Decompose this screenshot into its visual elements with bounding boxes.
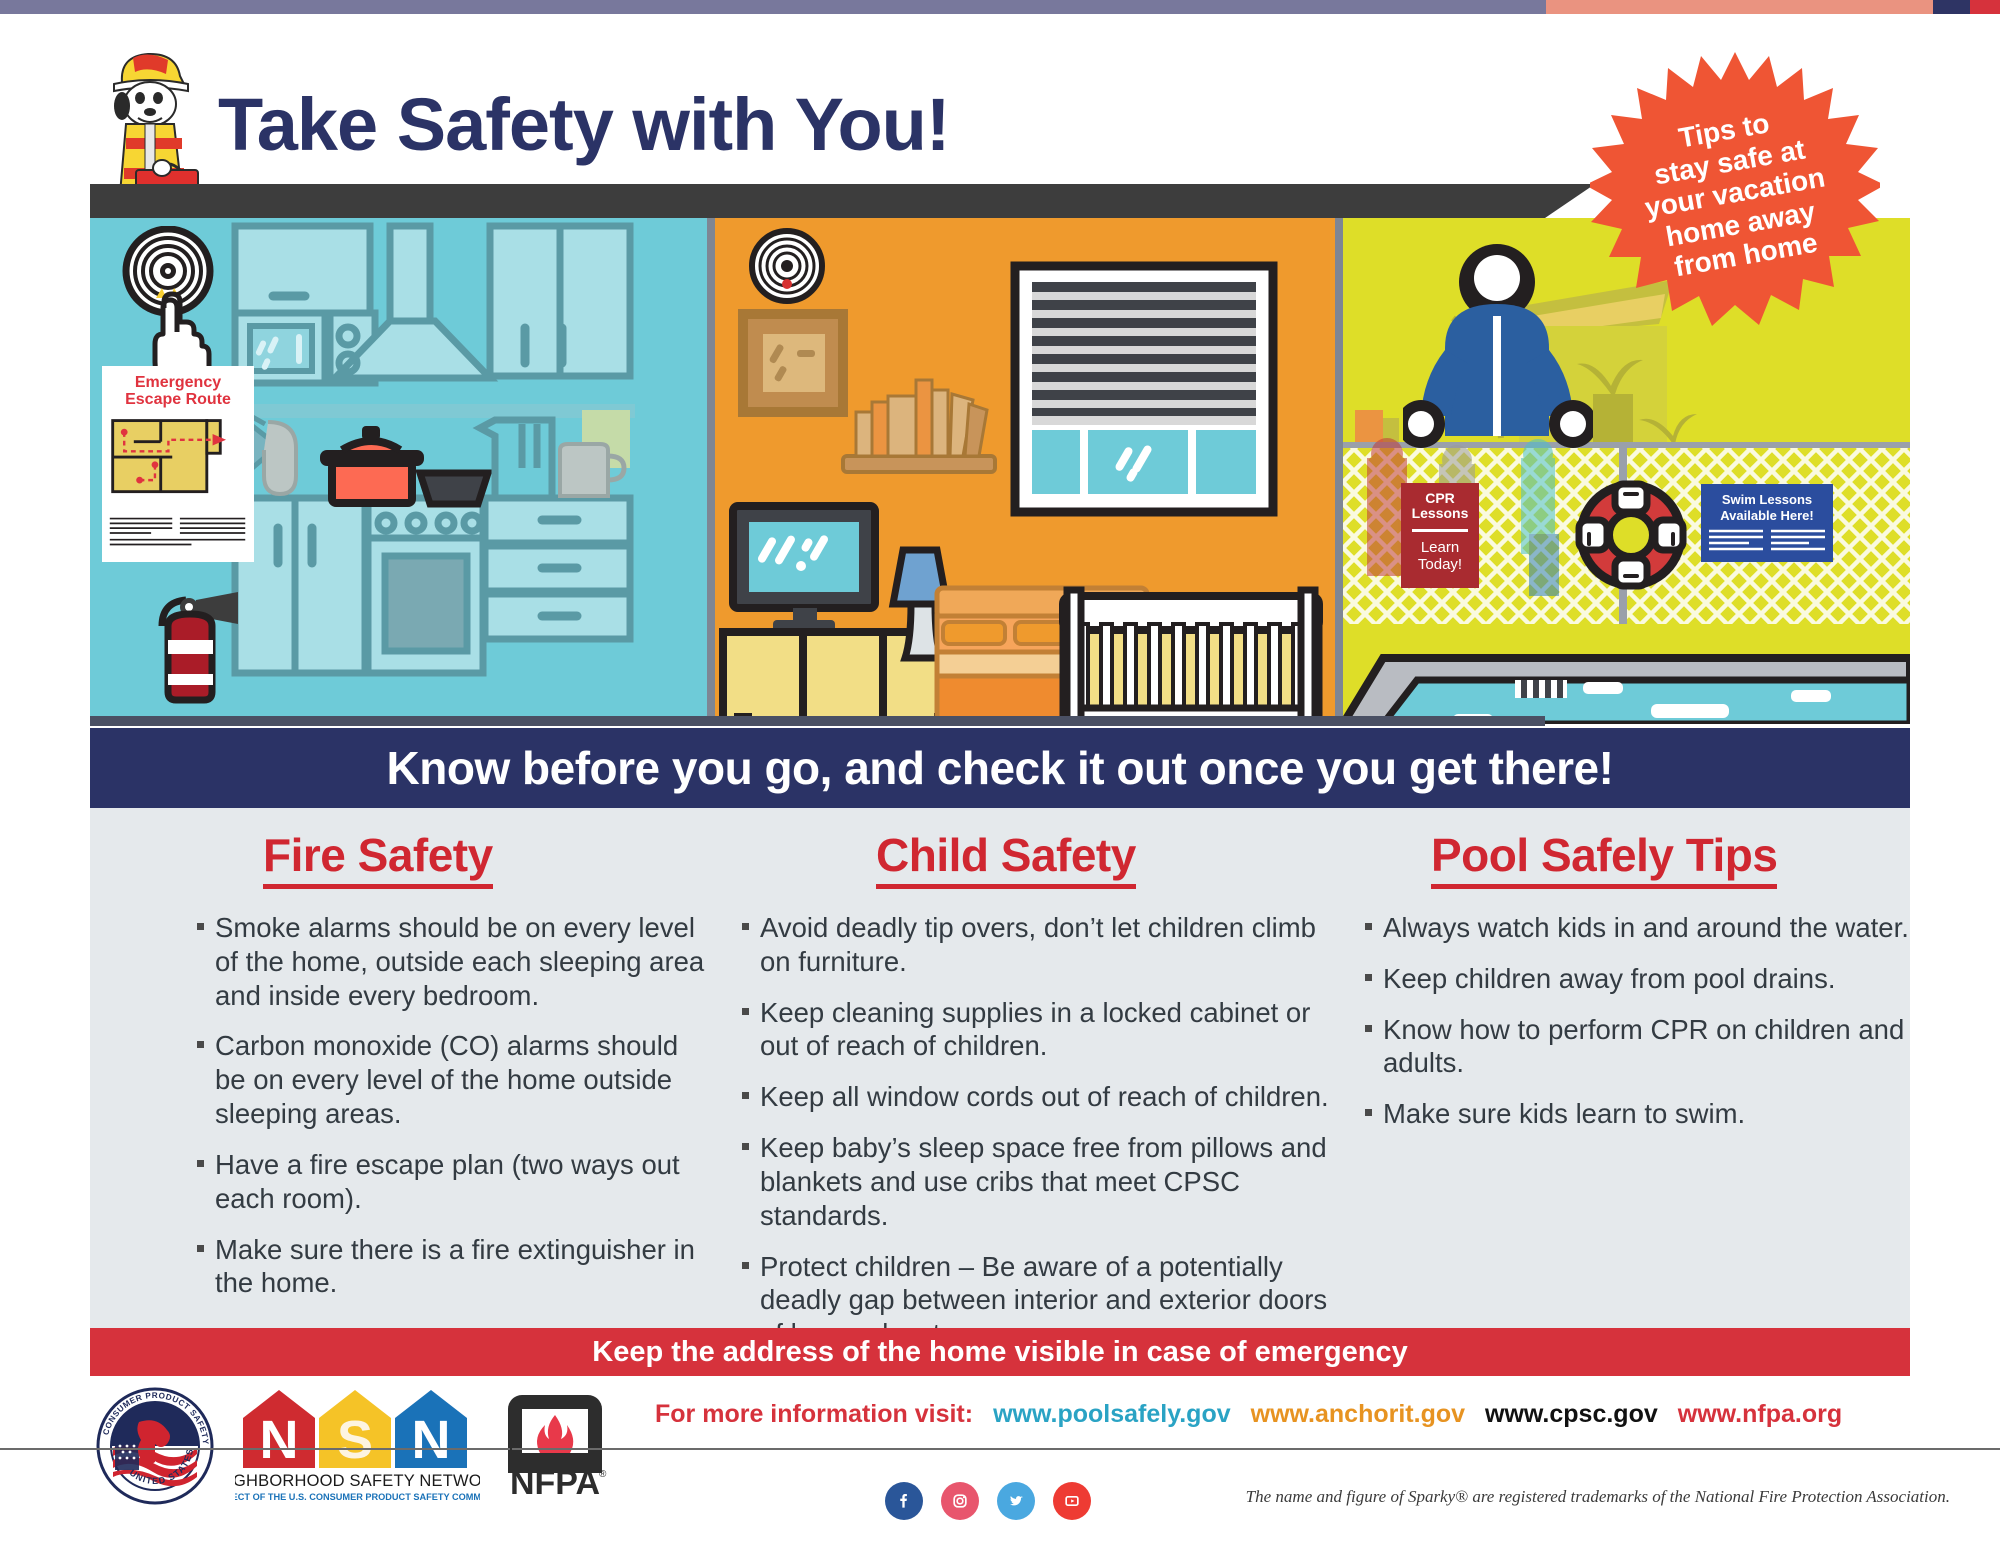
poster-title-line2: Escape Route [102, 391, 254, 408]
list-item: Make sure there is a fire extinguisher i… [195, 1233, 710, 1301]
twitter-icon[interactable] [997, 1482, 1035, 1520]
tips-section: Fire Safety Smoke alarms should be on ev… [90, 808, 1910, 1328]
person-figure-icon [1403, 240, 1593, 470]
cpsc-seal-logo: CONSUMER PRODUCT SAFETY COMMISSION UNITE… [95, 1386, 215, 1506]
svg-text:N: N [260, 1410, 299, 1470]
red-banner-text: Keep the address of the home visible in … [592, 1336, 1408, 1369]
cpr-sign-line1: CPR [1401, 491, 1479, 506]
svg-text:N: N [412, 1410, 451, 1470]
list-item: Keep all window cords out of reach of ch… [740, 1080, 1335, 1114]
panel-divider-right [1335, 218, 1343, 724]
footer: CONSUMER PRODUCT SAFETY COMMISSION UNITE… [0, 1376, 2000, 1546]
roof [90, 184, 1545, 218]
cpr-sign-line2: Lessons [1401, 506, 1479, 521]
footer-divider-right [512, 1448, 2000, 1450]
poster-title-line1: Emergency [102, 374, 254, 391]
floor-line [90, 716, 1545, 726]
bedroom-scene [715, 218, 1335, 724]
tips-starburst-badge: Tips to stay safe at your vacation home … [1590, 48, 1880, 338]
link-anchorit[interactable]: www.anchorit.gov [1251, 1400, 1465, 1429]
social-icons [885, 1482, 1091, 1520]
list-item: Have a fire escape plan (two ways out ea… [195, 1148, 710, 1216]
floor-plan-diagram [105, 409, 251, 509]
link-poolsafely[interactable]: www.poolsafely.gov [993, 1400, 1231, 1429]
list-item: Avoid deadly tip overs, don’t let childr… [740, 911, 1335, 979]
fire-safety-heading: Fire Safety [263, 828, 493, 889]
poster-text-lines [105, 514, 251, 550]
list-item: Keep baby’s sleep space free from pillow… [740, 1131, 1335, 1232]
list-item: Make sure kids learn to swim. [1363, 1097, 1910, 1131]
red-banner: Keep the address of the home visible in … [90, 1328, 1910, 1376]
instagram-icon[interactable] [941, 1482, 979, 1520]
blue-banner: Know before you go, and check it out onc… [90, 728, 1910, 808]
svg-text:S: S [337, 1410, 373, 1470]
list-item: Keep children away from pool drains. [1363, 962, 1910, 996]
links-intro-label: For more information visit: [655, 1400, 973, 1429]
footer-logos: CONSUMER PRODUCT SAFETY COMMISSION UNITE… [95, 1386, 610, 1506]
child-safety-list: Avoid deadly tip overs, don’t let childr… [740, 911, 1335, 1351]
blue-banner-text: Know before you go, and check it out onc… [387, 741, 1614, 795]
swim-sign-line1: Swim Lessons [1709, 492, 1825, 508]
column-pool-safely-tips: Pool Safely Tips Always watch kids in an… [1335, 808, 1910, 1328]
panel-kitchen: Emergency Escape Route [90, 218, 707, 724]
nfpa-logo: NFPA ® [500, 1391, 610, 1501]
child-safety-heading: Child Safety [876, 828, 1136, 889]
pool-safely-list: Always watch kids in and around the wate… [1363, 911, 1910, 1131]
footer-links: For more information visit: www.poolsafe… [655, 1400, 1915, 1429]
cpr-sign-line4: Today! [1401, 556, 1479, 573]
nsn-logo: N S N NEIGHBORHOOD SAFETY NETWORK A PROJ… [235, 1386, 480, 1506]
nsn-subtagline-text: A PROJECT OF THE U.S. CONSUMER PRODUCT S… [235, 1492, 480, 1502]
swim-sign-text-lines [1709, 528, 1825, 554]
swim-sign-line2: Available Here! [1709, 508, 1825, 524]
trademark-notice: The name and figure of Sparky® are regis… [1210, 1487, 1950, 1507]
nfpa-wordmark: NFPA [510, 1464, 600, 1501]
footer-divider-left [0, 1448, 510, 1450]
column-fire-safety: Fire Safety Smoke alarms should be on ev… [90, 808, 710, 1328]
list-item: Keep cleaning supplies in a locked cabin… [740, 996, 1335, 1064]
topbar-segment-gray [0, 0, 1546, 14]
page-title: Take Safety with You! [218, 82, 950, 167]
nsn-tagline-text: NEIGHBORHOOD SAFETY NETWORK [235, 1472, 480, 1490]
fire-extinguisher-icon [134, 590, 254, 710]
cpr-lessons-sign: CPR Lessons Learn Today! [1401, 483, 1479, 588]
panel-bedroom [715, 218, 1335, 724]
infographic-page: Take Safety with You! Tips to stay safe … [0, 0, 2000, 1546]
smoke-alarm-with-hand [112, 226, 242, 376]
starburst-text: Tips to stay safe at your vacation home … [1567, 25, 1903, 361]
life-ring-icon [1571, 470, 1691, 600]
list-item: Smoke alarms should be on every level of… [195, 911, 710, 1012]
facebook-icon[interactable] [885, 1482, 923, 1520]
pool-safely-heading: Pool Safely Tips [1431, 828, 1777, 889]
panel-divider-left [707, 218, 715, 724]
fire-safety-list: Smoke alarms should be on every level of… [195, 911, 710, 1300]
emergency-escape-route-poster: Emergency Escape Route [102, 366, 254, 562]
cpr-sign-line3: Learn [1401, 539, 1479, 556]
link-cpsc[interactable]: www.cpsc.gov [1485, 1400, 1658, 1429]
top-color-bar [0, 0, 2000, 14]
column-child-safety: Child Safety Avoid deadly tip overs, don… [710, 808, 1335, 1328]
topbar-segment-navy [1933, 0, 1970, 14]
list-item: Always watch kids in and around the wate… [1363, 911, 1910, 945]
link-nfpa[interactable]: www.nfpa.org [1678, 1400, 1842, 1429]
topbar-segment-salmon [1546, 0, 1933, 14]
svg-text:®: ® [599, 1469, 607, 1480]
list-item: Know how to perform CPR on children and … [1363, 1013, 1910, 1081]
list-item: Carbon monoxide (CO) alarms should be on… [195, 1029, 710, 1130]
swim-lessons-sign: Swim Lessons Available Here! [1701, 484, 1833, 562]
youtube-icon[interactable] [1053, 1482, 1091, 1520]
topbar-segment-red [1970, 0, 2000, 14]
